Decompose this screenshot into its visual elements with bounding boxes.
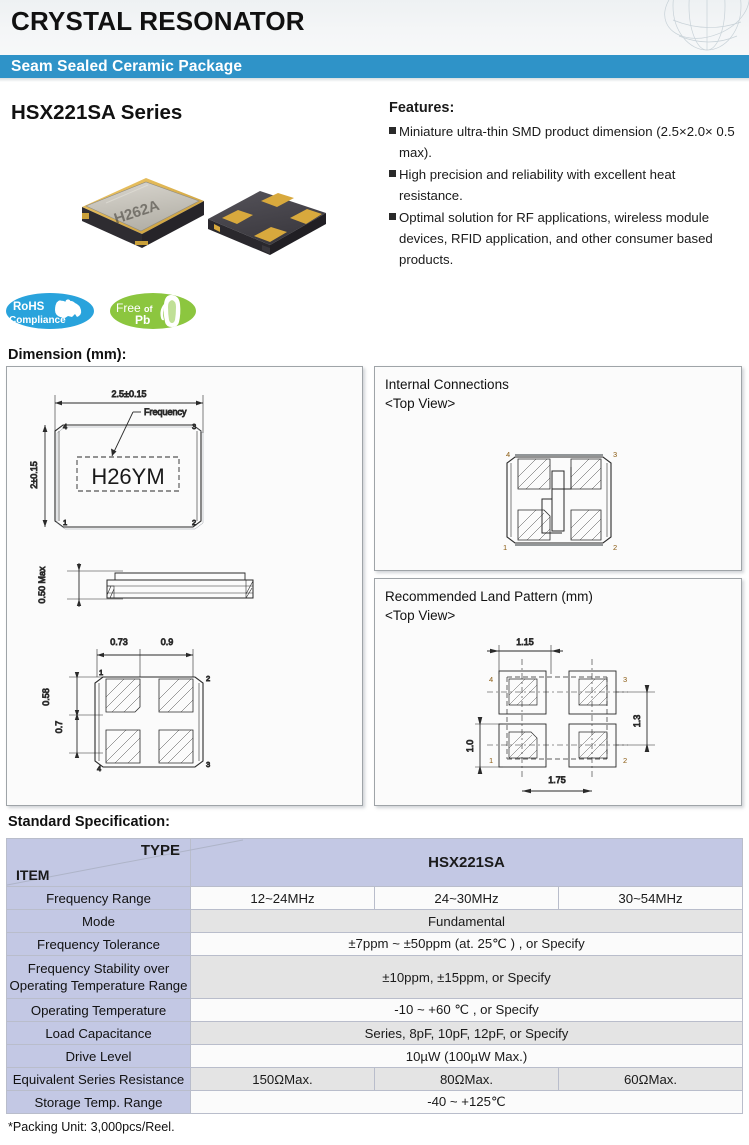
pin-label-2: 2: [192, 518, 196, 527]
square-bullet-icon: [389, 170, 396, 177]
features-block: Features: Miniature ultra-thin SMD produ…: [389, 100, 739, 271]
row-label: Mode: [7, 910, 191, 933]
table-row: Mode Fundamental: [7, 910, 743, 933]
pin-label-4: 4: [506, 450, 510, 459]
pin-label-1: 1: [503, 543, 507, 552]
top-view-height-dim: 2±0.15: [29, 461, 39, 488]
table-body: TYPE ITEM HSX221SA Frequency Range 12~24…: [7, 839, 743, 1114]
product-photo: H262A: [38, 155, 338, 280]
land-dim-10: 1.0: [465, 740, 475, 753]
square-bullet-icon: [389, 127, 396, 134]
land-dim-115: 1.15: [516, 637, 534, 647]
top-view-marking: H26YM: [91, 464, 164, 489]
dimension-panel: 2.5±0.15 2±0.15 H26YM: [6, 366, 363, 806]
land-dim-175: 1.75: [548, 775, 566, 785]
banner-label: Seam Sealed Ceramic Package: [11, 58, 242, 76]
spec-section-label: Standard Specification:: [8, 814, 170, 830]
pb-line2: Pb: [135, 313, 150, 327]
wireframe-globe-icon: [589, 0, 749, 58]
row-value: ±7ppm ~ ±50ppm (at. 25℃ ) , or Specify: [191, 933, 743, 956]
pin-label-3: 3: [613, 450, 617, 459]
bottom-view-dim-07: 0.7: [54, 721, 64, 734]
features-heading: Features:: [389, 100, 739, 116]
header-item-type-cell: TYPE ITEM: [7, 839, 191, 887]
series-title: HSX221SA Series: [11, 101, 182, 125]
bottom-view-dim-058: 0.58: [41, 688, 51, 706]
pin-label-1: 1: [489, 756, 493, 765]
table-row: Frequency Stability over Operating Tempe…: [7, 956, 743, 999]
header-item-label: ITEM: [16, 867, 49, 883]
row-value: 10µW (100µW Max.): [191, 1045, 743, 1068]
internal-connections-panel: Internal Connections <Top View>: [374, 366, 742, 571]
pin-label-1: 1: [63, 518, 67, 527]
row-value: Series, 8pF, 10pF, 12pF, or Specify: [191, 1022, 743, 1045]
panel-title-text: Internal Connections: [385, 377, 509, 392]
feature-item: High precision and reliability with exce…: [389, 164, 739, 206]
panel-title-text: Recommended Land Pattern (mm): [385, 589, 593, 604]
table-header-row: TYPE ITEM HSX221SA: [7, 839, 743, 887]
section-banner: Seam Sealed Ceramic Package: [0, 55, 749, 78]
eco-badges: RoHS Compliance Free of Pb: [5, 292, 197, 330]
row-value: 12~24MHz: [191, 887, 375, 910]
pin-label-2: 2: [623, 756, 627, 765]
row-label: Frequency Tolerance: [7, 933, 191, 956]
feature-text: Optimal solution for RF applications, wi…: [399, 207, 739, 270]
dimension-drawings: 2.5±0.15 2±0.15 H26YM: [7, 367, 362, 805]
free-of-pb-badge: Free of Pb: [109, 292, 197, 330]
row-label: Operating Temperature: [7, 999, 191, 1022]
row-label: Storage Temp. Range: [7, 1091, 191, 1114]
row-value: Fundamental: [191, 910, 743, 933]
row-label: Drive Level: [7, 1045, 191, 1068]
feature-text: Miniature ultra-thin SMD product dimensi…: [399, 121, 739, 163]
header-type-value: HSX221SA: [191, 839, 743, 887]
row-value: 150ΩMax.: [191, 1068, 375, 1091]
row-value: 30~54MHz: [559, 887, 743, 910]
bottom-view-dim-073: 0.73: [110, 637, 128, 647]
table-row: Drive Level 10µW (100µW Max.): [7, 1045, 743, 1068]
table-row: Load Capacitance Series, 8pF, 10pF, 12pF…: [7, 1022, 743, 1045]
dimension-section-label: Dimension (mm):: [8, 347, 126, 363]
row-label: Frequency Range: [7, 887, 191, 910]
row-label: Equivalent Series Resistance: [7, 1068, 191, 1091]
rohs-compliance-badge: RoHS Compliance: [5, 292, 95, 330]
table-row: Operating Temperature -10 ~ +60 ℃ , or S…: [7, 999, 743, 1022]
panel-subtitle-text: <Top View>: [385, 396, 455, 411]
internal-connections-title: Internal Connections <Top View>: [385, 375, 509, 413]
row-value: ±10ppm, ±15ppm, or Specify: [191, 956, 743, 999]
feature-item: Optimal solution for RF applications, wi…: [389, 207, 739, 270]
feature-item: Miniature ultra-thin SMD product dimensi…: [389, 121, 739, 163]
rohs-line2: Compliance: [9, 315, 66, 326]
pin-label-2: 2: [206, 674, 210, 683]
pin-label-2: 2: [613, 543, 617, 552]
frequency-callout-label: Frequency: [144, 407, 187, 417]
banner-shadow: [0, 78, 749, 82]
row-value: -10 ~ +60 ℃ , or Specify: [191, 999, 743, 1022]
standard-specification-table: TYPE ITEM HSX221SA Frequency Range 12~24…: [6, 838, 743, 1114]
packing-footnote: *Packing Unit: 3,000pcs/Reel.: [8, 1120, 175, 1134]
row-label: Load Capacitance: [7, 1022, 191, 1045]
top-view-width-dim: 2.5±0.15: [112, 389, 147, 399]
land-pattern-panel: Recommended Land Pattern (mm) <Top View>…: [374, 578, 742, 806]
panel-subtitle-text: <Top View>: [385, 608, 455, 623]
feature-text: High precision and reliability with exce…: [399, 164, 739, 206]
pin-label-4: 4: [489, 675, 493, 684]
table-row: Storage Temp. Range -40 ~ +125℃: [7, 1091, 743, 1114]
square-bullet-icon: [389, 213, 396, 220]
table-row: Frequency Range 12~24MHz 24~30MHz 30~54M…: [7, 887, 743, 910]
pin-label-1: 1: [99, 668, 103, 677]
side-view-height-dim: 0.50 Max: [37, 566, 47, 604]
land-dim-13: 1.3: [632, 715, 642, 728]
pin-label-4: 4: [97, 764, 101, 773]
bottom-view-dim-09: 0.9: [161, 637, 174, 647]
datasheet-page: CRYSTAL RESONATOR Seam Sealed Ceramic Pa…: [0, 0, 749, 1145]
header-type-label: TYPE: [141, 842, 180, 859]
table-row: Equivalent Series Resistance 150ΩMax. 80…: [7, 1068, 743, 1091]
page-title: CRYSTAL RESONATOR: [11, 6, 305, 37]
pin-label-4: 4: [63, 422, 67, 431]
pin-label-3: 3: [206, 760, 210, 769]
land-pattern-title: Recommended Land Pattern (mm) <Top View>: [385, 587, 593, 625]
pin-label-3: 3: [623, 675, 627, 684]
rohs-line1: RoHS: [13, 301, 45, 313]
row-value: -40 ~ +125℃: [191, 1091, 743, 1114]
row-value: 24~30MHz: [375, 887, 559, 910]
row-label: Frequency Stability over Operating Tempe…: [7, 956, 191, 999]
table-row: Frequency Tolerance ±7ppm ~ ±50ppm (at. …: [7, 933, 743, 956]
pin-label-3: 3: [192, 422, 196, 431]
row-value: 60ΩMax.: [559, 1068, 743, 1091]
row-value: 80ΩMax.: [375, 1068, 559, 1091]
